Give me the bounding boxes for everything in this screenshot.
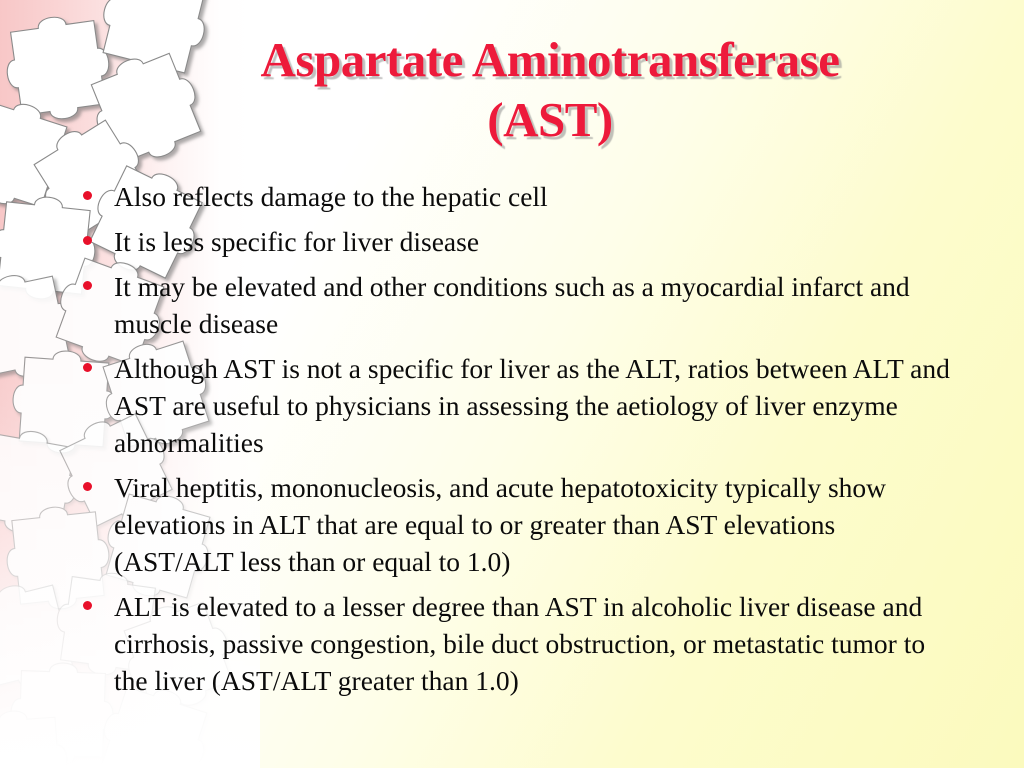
list-item-text: Also reflects damage to the hepatic cell: [114, 178, 994, 215]
list-item: ALT is elevated to a lesser degree than …: [72, 588, 1002, 699]
bullet-dot-icon: [72, 469, 114, 506]
list-item: It may be elevated and other conditions …: [72, 268, 1002, 342]
bullet-dot-icon: [72, 268, 114, 305]
slide-title: Aspartate Aminotransferase (AST): [150, 30, 950, 150]
slide-title-line-1: Aspartate Aminotransferase: [150, 30, 950, 90]
list-item-text: Although AST is not a specific for liver…: [114, 350, 959, 461]
bullet-dot-icon: [72, 588, 114, 625]
list-item-text: ALT is elevated to a lesser degree than …: [114, 588, 959, 699]
list-item: Viral heptitis, mononucleosis, and acute…: [72, 469, 1002, 580]
slide-canvas: Aspartate Aminotransferase (AST) Also re…: [0, 0, 1024, 768]
list-item-text: It is less specific for liver disease: [114, 223, 994, 260]
list-item: Also reflects damage to the hepatic cell: [72, 178, 1002, 215]
bullet-dot-icon: [72, 350, 114, 387]
bullet-list: Also reflects damage to the hepatic cell…: [72, 178, 1002, 707]
list-item: It is less specific for liver disease: [72, 223, 1002, 260]
slide-content: Aspartate Aminotransferase (AST) Also re…: [0, 0, 1024, 768]
bullet-dot-icon: [72, 223, 114, 260]
list-item-text: Viral heptitis, mononucleosis, and acute…: [114, 469, 944, 580]
bullet-dot-icon: [72, 178, 114, 215]
list-item-text: It may be elevated and other conditions …: [114, 268, 994, 342]
slide-title-line-2: (AST): [150, 90, 950, 150]
list-item: Although AST is not a specific for liver…: [72, 350, 1002, 461]
